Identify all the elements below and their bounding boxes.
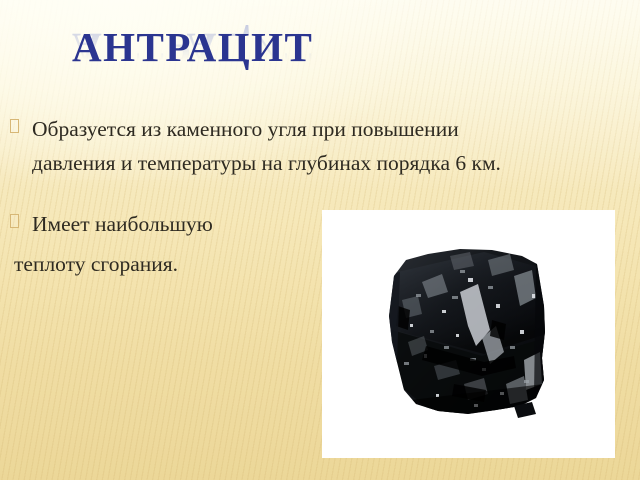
- page-title: Антрацит: [72, 24, 313, 70]
- bullet-paragraph-text: Образуется из каменного угля при повышен…: [32, 117, 501, 175]
- bullet-paragraph-text: Имеет наибольшую: [32, 212, 213, 236]
- slide-canvas: Антрацит Антрацит Образуется из каменног…: [0, 0, 640, 480]
- slide-title-block: Антрацит Антрацит: [0, 24, 640, 104]
- slide-title-reflection: Антрацит: [72, 25, 313, 71]
- coal-lump-illustration: [364, 234, 574, 434]
- box-bullet-icon: [10, 214, 19, 228]
- picture-frame: [322, 210, 615, 458]
- anthracite-coal-photo: [364, 234, 574, 434]
- bullet-paragraph: Образуется из каменного угля при повышен…: [32, 112, 502, 180]
- continuation-paragraph-text: теплоту сгорания.: [14, 252, 178, 276]
- box-bullet-icon: [10, 119, 19, 133]
